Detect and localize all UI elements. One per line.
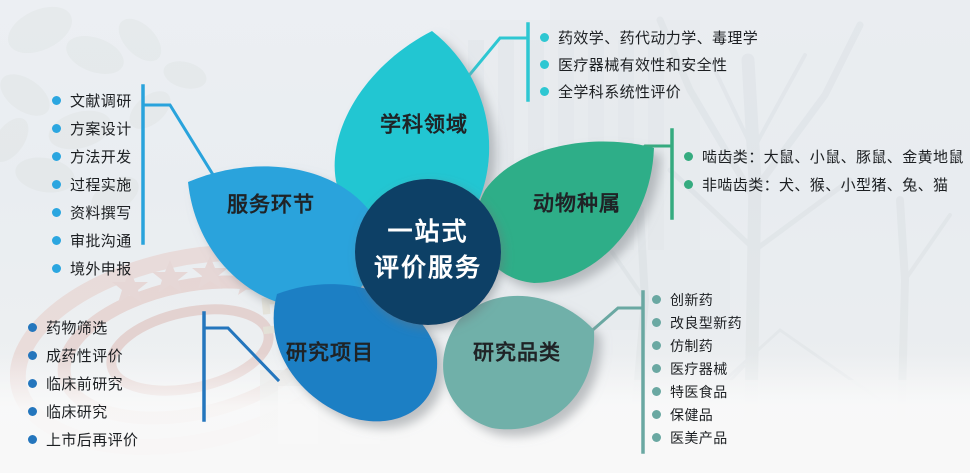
bullet-dot [652,295,661,304]
list-item-label: 啮齿类：大鼠、小鼠、豚鼠、金黄地鼠 [702,146,964,167]
petal-label-project: 研究项目 [286,341,374,365]
bullet-dot [52,124,61,133]
list-item[interactable]: 非啮齿类：犬、猴、小型猪、兔、猫 [684,170,964,198]
list-item[interactable]: 啮齿类：大鼠、小鼠、豚鼠、金黄地鼠 [684,142,964,170]
list-service: 文献调研 方案设计 方法开发 过程实施 资料撰写 审批沟通 境外申报 [52,86,132,282]
list-item[interactable]: 临床前研究 [28,369,138,397]
list-item-label: 临床研究 [46,401,108,422]
list-item[interactable]: 医疗器械 [652,357,742,380]
list-item-label: 特医食品 [670,382,728,402]
bullet-dot [52,152,61,161]
bullet-dot [28,323,37,332]
list-project: 药物筛选 成药性评价 临床前研究 临床研究 上市后再评价 [28,313,138,453]
bullet-dot [52,208,61,217]
list-item[interactable]: 过程实施 [52,170,132,198]
list-field: 药效学、药代动力学、毒理学 医疗器械有效性和安全性 全学科系统性评价 [540,24,758,105]
bullet-dot [28,407,37,416]
center-label-line2: 评价服务 [374,254,482,282]
list-category: 创新药 改良型新药 仿制药 医疗器械 特医食品 保健品 医美产品 [652,288,742,449]
list-item[interactable]: 医疗器械有效性和安全性 [540,51,758,78]
list-item[interactable]: 上市后再评价 [28,425,138,453]
list-item[interactable]: 仿制药 [652,334,742,357]
list-item-label: 药物筛选 [46,317,108,338]
list-item-label: 文献调研 [70,90,132,111]
bullet-dot [52,264,61,273]
connector-project [204,313,278,420]
bullet-dot [52,96,61,105]
bullet-dot [28,379,37,388]
list-item-label: 临床前研究 [46,373,123,394]
list-item-label: 药效学、药代动力学、毒理学 [558,27,758,48]
list-item-label: 境外申报 [70,258,132,279]
bullet-dot [52,236,61,245]
list-item-label: 资料撰写 [70,202,132,223]
bullet-dot [652,433,661,442]
list-item-label: 审批沟通 [70,230,132,251]
list-item-label: 非啮齿类：犬、猴、小型猪、兔、猫 [702,174,948,195]
list-item[interactable]: 方法开发 [52,142,132,170]
bullet-dot [652,341,661,350]
center-hub[interactable] [355,179,501,325]
list-item-label: 改良型新药 [670,313,742,333]
connector-service-leader [143,105,220,186]
list-item-label: 医疗器械有效性和安全性 [558,54,727,75]
petal-label-category: 研究品类 [473,341,561,365]
list-item-label: 方案设计 [70,118,132,139]
bullet-dot [652,318,661,327]
list-item-label: 创新药 [670,290,713,310]
list-item-label: 医美产品 [670,428,728,448]
infographic-canvas: 学 百 [0,0,970,473]
bullet-dot [684,180,693,189]
petal-label-species: 动物种属 [533,192,621,216]
bullet-dot [540,60,549,69]
list-item[interactable]: 药效学、药代动力学、毒理学 [540,24,758,51]
list-item[interactable]: 特医食品 [652,380,742,403]
list-item-label: 成药性评价 [46,345,123,366]
list-item-label: 保健品 [670,405,713,425]
bullet-dot [52,180,61,189]
list-item-label: 医疗器械 [670,359,728,379]
petal-label-field: 学科领域 [380,113,468,137]
petal-label-service: 服务环节 [227,193,315,217]
list-item-label: 仿制药 [670,336,713,356]
list-item[interactable]: 改良型新药 [652,311,742,334]
list-item-label: 方法开发 [70,146,132,167]
list-item[interactable]: 资料撰写 [52,198,132,226]
bullet-dot [652,387,661,396]
list-item[interactable]: 审批沟通 [52,226,132,254]
list-item[interactable]: 药物筛选 [28,313,138,341]
list-item[interactable]: 全学科系统性评价 [540,78,758,105]
bullet-dot [540,33,549,42]
bullet-dot [684,152,693,161]
list-species: 啮齿类：大鼠、小鼠、豚鼠、金黄地鼠 非啮齿类：犬、猴、小型猪、兔、猫 [684,142,964,198]
list-item[interactable]: 成药性评价 [28,341,138,369]
bullet-dot [28,351,37,360]
list-item[interactable]: 方案设计 [52,114,132,142]
bullet-dot [28,435,37,444]
list-item-label: 全学科系统性评价 [558,81,681,102]
connector-project-leader [204,328,278,380]
bullet-dot [540,87,549,96]
list-item-label: 上市后再评价 [46,429,138,450]
list-item-label: 过程实施 [70,174,132,195]
list-item[interactable]: 保健品 [652,403,742,426]
list-item[interactable]: 医美产品 [652,426,742,449]
list-item[interactable]: 文献调研 [52,86,132,114]
bullet-dot [652,410,661,419]
center-label-line1: 一站式 [387,218,468,246]
list-item[interactable]: 境外申报 [52,254,132,282]
list-item[interactable]: 创新药 [652,288,742,311]
bullet-dot [652,364,661,373]
petal-diagram: 学科领域 服务环节 动物种属 研究项目 研究品类 一站式 评价服务 [0,0,970,473]
list-item[interactable]: 临床研究 [28,397,138,425]
